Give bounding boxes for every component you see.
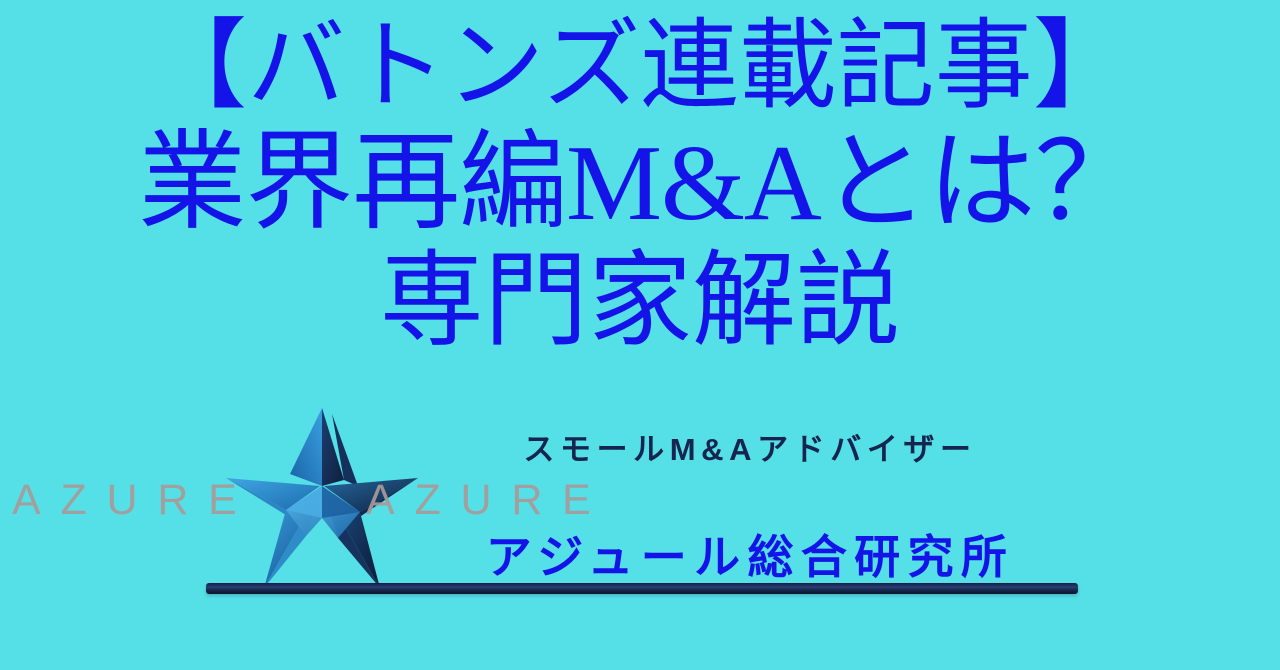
- title-line-1: 【バトンズ連載記事】: [0, 18, 1280, 116]
- logo-area: AZURE AZURE スモールM&Aアドバイザー アジュール総合研究所: [0, 396, 1280, 606]
- company-name: アジュール総合研究所: [410, 521, 1090, 587]
- thumbnail-canvas: 【バトンズ連載記事】 業界再編M&Aとは？ 専門家解説: [0, 0, 1280, 670]
- azure-wordmark-left: AZURE: [12, 476, 257, 525]
- title-line-2: 業界再編M&Aとは？: [0, 130, 1280, 238]
- azure-wordmark-right: AZURE: [366, 476, 611, 525]
- logo-tagline: スモールM&Aアドバイザー: [410, 424, 1090, 469]
- title-line-3: 専門家解説: [0, 250, 1280, 354]
- title-block: 【バトンズ連載記事】 業界再編M&Aとは？ 専門家解説: [0, 18, 1280, 354]
- logo-underline-bar: [206, 583, 1078, 594]
